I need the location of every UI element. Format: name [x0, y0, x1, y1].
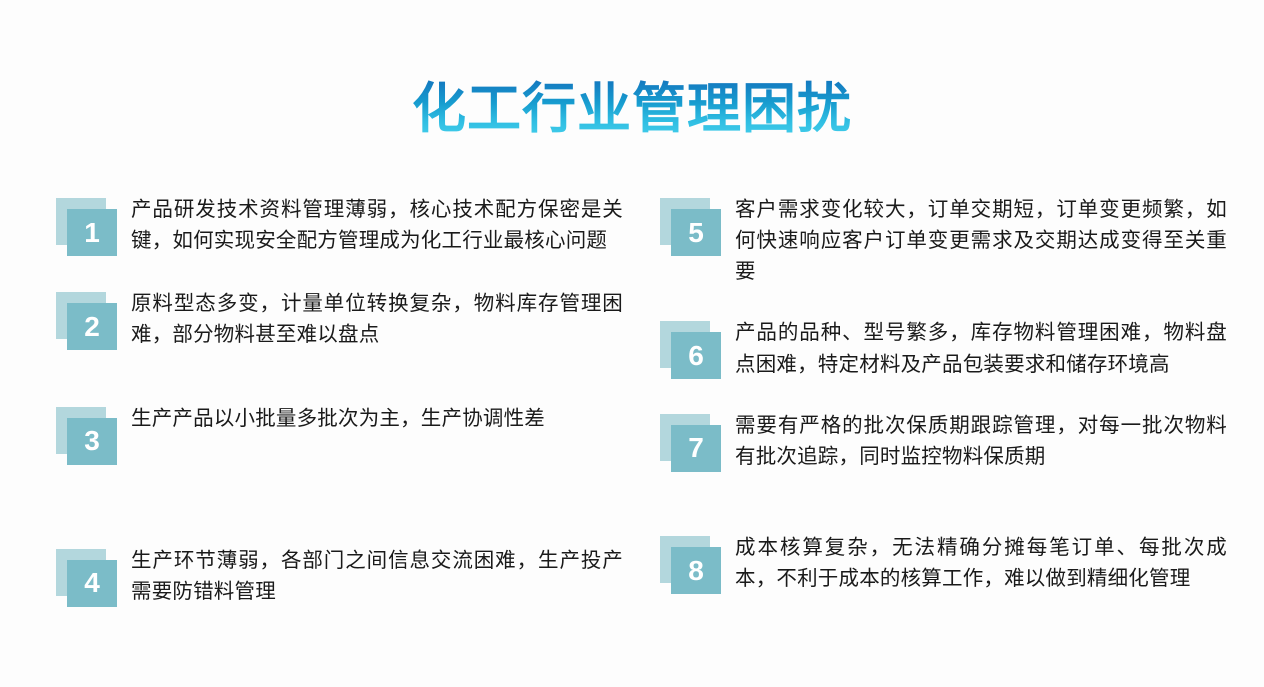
badge-number: 6 — [688, 342, 704, 370]
badge-chip: 1 — [67, 209, 117, 256]
badge-number: 7 — [688, 434, 704, 462]
badge-chip: 4 — [67, 560, 117, 607]
number-badge: 5 — [660, 198, 721, 256]
badge-number: 2 — [84, 313, 100, 341]
number-badge: 1 — [56, 198, 117, 256]
badge-chip: 8 — [671, 547, 721, 594]
badge-chip: 2 — [67, 303, 117, 350]
badge-number: 4 — [84, 569, 100, 597]
list-item: 8 成本核算复杂，无法精确分摊每笔订单、每批次成本，不利于成本的核算工作，难以做… — [660, 528, 1242, 594]
list-item-text: 产品的品种、型号繁多，库存物料管理困难，物料盘点困难，特定材料及产品包装要求和储… — [735, 313, 1227, 379]
content-columns: 1 产品研发技术资料管理薄弱，核心技术配方保密是关键，如何实现安全配方管理成为化… — [0, 190, 1264, 607]
badge-chip: 6 — [671, 332, 721, 379]
badge-number: 3 — [84, 427, 100, 455]
badge-number: 1 — [84, 219, 100, 247]
number-badge: 3 — [56, 407, 117, 465]
list-item-text: 成本核算复杂，无法精确分摊每笔订单、每批次成本，不利于成本的核算工作，难以做到精… — [735, 528, 1227, 594]
title-container: 化工行业管理困扰 — [0, 44, 1264, 176]
number-badge: 4 — [56, 549, 117, 607]
number-badge: 2 — [56, 292, 117, 350]
list-item: 5 客户需求变化较大，订单交期短，订单变更频繁，如何快速响应客户订单变更需求及交… — [660, 190, 1242, 287]
badge-chip: 5 — [671, 209, 721, 256]
badge-number: 5 — [688, 219, 704, 247]
list-item-text: 客户需求变化较大，订单交期短，订单变更频繁，如何快速响应客户订单变更需求及交期达… — [735, 190, 1227, 287]
right-column: 5 客户需求变化较大，订单交期短，订单变更频繁，如何快速响应客户订单变更需求及交… — [0, 190, 1264, 607]
list-item-text: 需要有严格的批次保质期跟踪管理，对每一批次物料有批次追踪，同时监控物料保质期 — [735, 406, 1227, 472]
number-badge: 6 — [660, 321, 721, 379]
badge-number: 8 — [688, 557, 704, 585]
list-item: 7 需要有严格的批次保质期跟踪管理，对每一批次物料有批次追踪，同时监控物料保质期 — [660, 406, 1242, 472]
badge-chip: 3 — [67, 418, 117, 465]
number-badge: 7 — [660, 414, 721, 472]
slide-canvas: 化工行业管理困扰 1 产品研发技术资料管理薄弱，核心技术配方保密是关键，如何实现… — [0, 0, 1264, 687]
list-item: 6 产品的品种、型号繁多，库存物料管理困难，物料盘点困难，特定材料及产品包装要求… — [660, 313, 1242, 379]
badge-chip: 7 — [671, 425, 721, 472]
page-title: 化工行业管理困扰 — [412, 80, 852, 139]
number-badge: 8 — [660, 536, 721, 594]
